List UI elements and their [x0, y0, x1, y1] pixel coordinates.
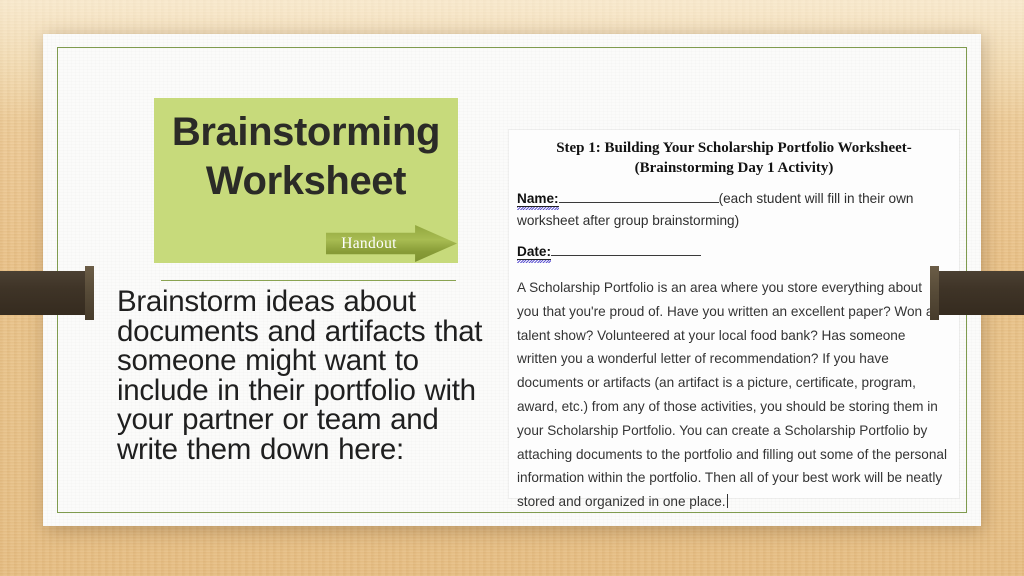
date-label: Date:	[517, 244, 551, 260]
right-dark-bar-cap	[930, 266, 939, 320]
worksheet-document-panel: Step 1: Building Your Scholarship Portfo…	[509, 130, 959, 498]
name-field-row: Name:(each student will fill in their ow…	[517, 188, 955, 231]
name-blank-line[interactable]	[559, 202, 719, 203]
name-note: (each student will fill in their own wor…	[517, 191, 914, 228]
worksheet-heading: Step 1: Building Your Scholarship Portfo…	[521, 138, 947, 178]
name-label: Name:	[517, 191, 559, 207]
text-cursor-caret	[727, 494, 728, 508]
presentation-slide: Brainstorming Worksheet Handout Brainsto…	[43, 34, 981, 526]
date-field-row: Date:	[517, 241, 955, 263]
left-dark-bar	[0, 271, 94, 315]
title-line-2: Worksheet	[154, 157, 458, 206]
slide-title: Brainstorming Worksheet	[154, 108, 458, 206]
worksheet-heading-line-1: Step 1: Building Your Scholarship Portfo…	[556, 140, 912, 156]
right-dark-bar	[930, 271, 1024, 315]
slide-screenshot: Brainstorming Worksheet Handout Brainsto…	[0, 0, 1024, 576]
worksheet-paragraph-wrap[interactable]: A Scholarship Portfolio is an area where…	[517, 276, 947, 514]
worksheet-paragraph: A Scholarship Portfolio is an area where…	[517, 280, 947, 509]
section-divider	[161, 280, 456, 281]
left-dark-bar-cap	[85, 266, 94, 320]
worksheet-heading-line-2: (Brainstorming Day 1 Activity)	[521, 158, 947, 178]
date-blank-line[interactable]	[551, 255, 701, 256]
handout-arrow-label: Handout	[326, 225, 412, 262]
handout-arrow: Handout	[326, 225, 457, 262]
slide-body-text: Brainstorm ideas about documents and art…	[117, 287, 489, 464]
title-line-1: Brainstorming	[172, 110, 440, 154]
